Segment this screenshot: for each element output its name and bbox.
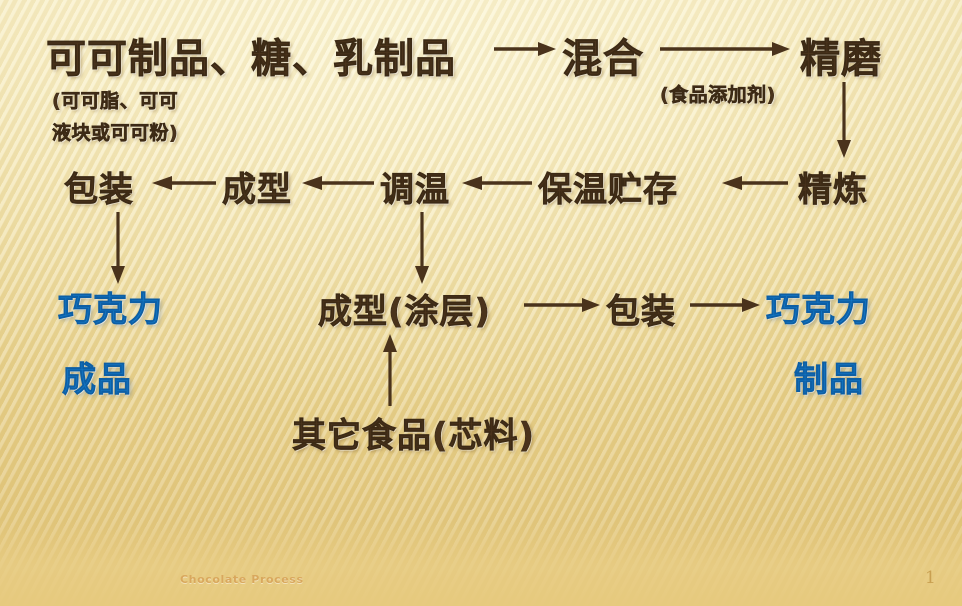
node-raw-materials: 可可制品、糖、乳制品 bbox=[46, 26, 456, 84]
edge-label-food-additive: (食品添加剂) bbox=[660, 80, 776, 107]
arrow-fine-grind-to-conche bbox=[834, 82, 854, 158]
arrow-center-filling-to-coating bbox=[380, 334, 400, 406]
node-coating-moulding: 成型(涂层) bbox=[318, 284, 491, 333]
node-chocolate-products-line2: 制品 bbox=[794, 352, 864, 401]
node-warm-storage: 保温贮存 bbox=[538, 162, 678, 211]
node-packaging-lower: 包装 bbox=[606, 284, 676, 333]
node-raw-materials-note-line1: (可可脂、可可 bbox=[52, 86, 178, 113]
node-other-food-center-filling: 其它食品(芯料) bbox=[292, 408, 535, 457]
node-packaging-upper: 包装 bbox=[64, 162, 134, 211]
node-chocolate-finished-line1: 巧克力 bbox=[58, 282, 163, 331]
page-number: 1 bbox=[925, 568, 936, 588]
node-tempering: 调温 bbox=[380, 162, 450, 211]
slide-canvas: 可可制品、糖、乳制品 (可可脂、可可 液块或可可粉) 混合 (食品添加剂) 精磨… bbox=[0, 0, 962, 606]
arrow-raw-to-mix bbox=[494, 40, 556, 58]
arrow-tempering-to-coating bbox=[412, 212, 432, 284]
footer-label: Chocolate Process bbox=[180, 573, 304, 586]
node-conching: 精炼 bbox=[798, 162, 868, 211]
arrow-conche-to-storage bbox=[722, 174, 788, 192]
arrow-mix-to-fine-grind bbox=[660, 40, 790, 58]
arrow-moulding-to-packaging bbox=[152, 174, 216, 192]
arrow-packaging-to-chocolate-products bbox=[690, 296, 760, 314]
node-chocolate-finished-line2: 成品 bbox=[62, 352, 132, 401]
node-chocolate-products-line1: 巧克力 bbox=[766, 282, 871, 331]
arrow-storage-to-tempering bbox=[462, 174, 532, 192]
arrow-coating-to-packaging bbox=[524, 296, 600, 314]
node-moulding: 成型 bbox=[222, 162, 292, 211]
arrow-packaging-to-finished-product bbox=[108, 212, 128, 284]
node-mixing: 混合 bbox=[562, 26, 644, 84]
arrow-tempering-to-moulding bbox=[302, 174, 374, 192]
node-raw-materials-note-line2: 液块或可可粉) bbox=[52, 118, 178, 145]
node-fine-grinding: 精磨 bbox=[800, 26, 882, 84]
